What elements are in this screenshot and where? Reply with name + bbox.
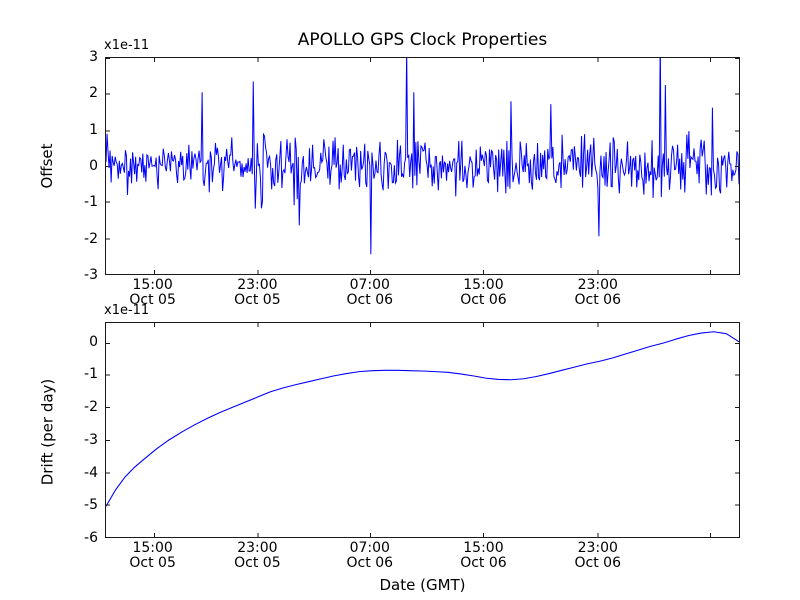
xtick-time: 15:00	[460, 278, 506, 293]
ytick-label: 3	[89, 49, 98, 65]
ytick-label: -5	[84, 497, 98, 513]
offset-xtick-labels: 15:00Oct 0523:00Oct 0507:00Oct 0615:00Oc…	[105, 278, 740, 318]
figure-canvas: APOLLO GPS Clock Properties x1e-11 Offse…	[0, 0, 800, 600]
xtick-date: Oct 06	[575, 293, 621, 308]
xtick-time: 15:00	[129, 541, 175, 556]
xtick-label: 23:00Oct 06	[575, 278, 621, 308]
ytick-label: -2	[84, 399, 98, 415]
ytick-label: -2	[84, 231, 98, 247]
xtick-date: Oct 05	[129, 556, 175, 571]
ytick-label: -3	[84, 432, 98, 448]
ytick-label: -1	[84, 194, 98, 210]
xtick-time: 23:00	[234, 278, 280, 293]
drift-ytick-labels: 0-1-2-3-4-5-6	[68, 322, 98, 538]
xtick-time: 15:00	[129, 278, 175, 293]
offset-axis-ylabel: Offset	[38, 106, 56, 226]
drift-xtick-labels: 15:00Oct 0523:00Oct 0507:00Oct 0615:00Oc…	[105, 541, 740, 581]
xtick-time: 07:00	[347, 278, 393, 293]
xtick-date: Oct 06	[460, 556, 506, 571]
ytick-label: 2	[89, 85, 98, 101]
drift-tick-marks	[106, 323, 739, 537]
drift-axis-xlabel: Date (GMT)	[105, 576, 740, 594]
xtick-date: Oct 06	[575, 556, 621, 571]
xtick-time: 07:00	[347, 541, 393, 556]
drift-axis-exponent-label: x1e-11	[104, 303, 149, 318]
xtick-label: 15:00Oct 05	[129, 541, 175, 571]
drift-plot-area[interactable]	[105, 322, 740, 538]
xtick-label: 15:00Oct 06	[460, 278, 506, 308]
xtick-label: 23:00Oct 05	[234, 541, 280, 571]
xtick-date: Oct 05	[234, 556, 280, 571]
drift-axis-ylabel: Drift (per day)	[39, 345, 57, 520]
ytick-label: -1	[84, 366, 98, 382]
figure-title: APOLLO GPS Clock Properties	[105, 30, 740, 50]
offset-axis-exponent-label: x1e-11	[104, 38, 149, 53]
xtick-label: 07:00Oct 06	[347, 541, 393, 571]
xtick-label: 07:00Oct 06	[347, 278, 393, 308]
xtick-time: 23:00	[234, 541, 280, 556]
xtick-label: 23:00Oct 05	[234, 278, 280, 308]
xtick-date: Oct 06	[347, 556, 393, 571]
offset-ytick-labels: 3210-1-2-3	[68, 57, 98, 275]
xtick-time: 15:00	[460, 541, 506, 556]
ytick-label: -3	[84, 267, 98, 283]
xtick-date: Oct 05	[234, 293, 280, 308]
xtick-time: 23:00	[575, 278, 621, 293]
xtick-date: Oct 06	[347, 293, 393, 308]
ytick-label: 0	[89, 158, 98, 174]
xtick-date: Oct 06	[460, 293, 506, 308]
ytick-label: 1	[89, 122, 98, 138]
xtick-time: 23:00	[575, 541, 621, 556]
ytick-label: 0	[89, 334, 98, 350]
xtick-label: 23:00Oct 06	[575, 541, 621, 571]
xtick-label: 15:00Oct 06	[460, 541, 506, 571]
offset-plot-area[interactable]	[105, 57, 740, 275]
ytick-label: -4	[84, 465, 98, 481]
ytick-label: -6	[84, 530, 98, 546]
offset-tick-marks	[106, 58, 739, 274]
